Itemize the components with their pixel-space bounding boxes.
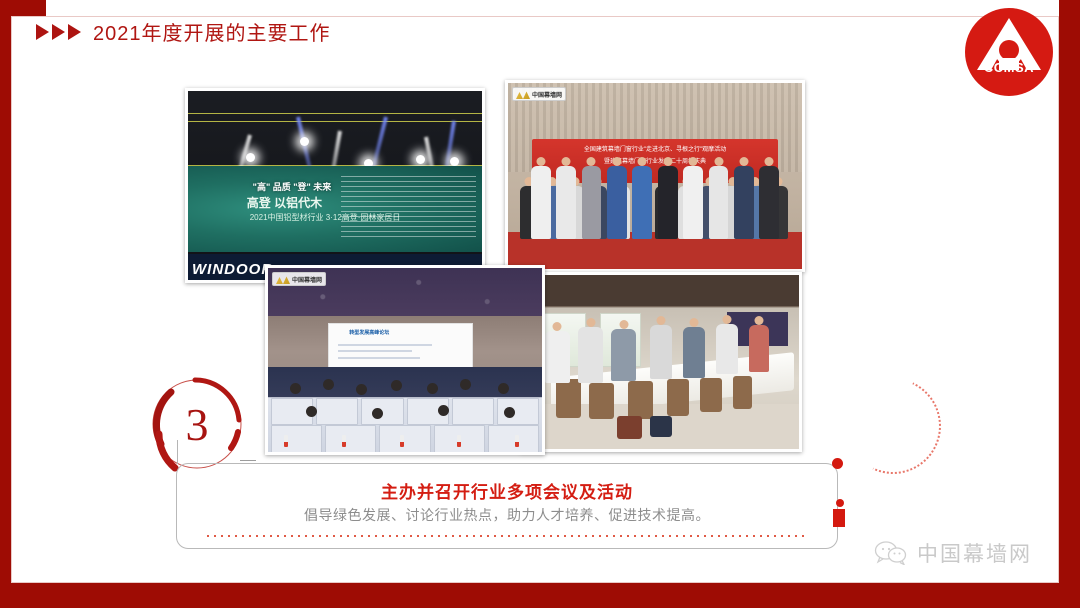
wechat-footer: 中国幕墙网 bbox=[874, 538, 1032, 568]
watermark-mark-icon bbox=[276, 274, 290, 284]
photo-auditorium-image: 转型发展高峰论坛 bbox=[268, 268, 542, 452]
photo-roundtable[interactable] bbox=[520, 272, 802, 452]
logo-mark-icon bbox=[965, 8, 1053, 96]
windoor-brand-text: WINDOOR bbox=[192, 261, 273, 278]
page-title: 2021年度开展的主要工作 bbox=[93, 17, 331, 46]
dotted-circle-decoration bbox=[831, 364, 954, 487]
dot-marker-small bbox=[836, 499, 844, 507]
caption-dotted-rule bbox=[207, 535, 807, 537]
screen-title: 转型发展高峰论坛 bbox=[349, 329, 389, 336]
photo-stage-event-image: "高" 品质 "登" 未来 高登 以铝代木 2021中国铝型材行业 3·12高登… bbox=[188, 91, 482, 280]
photo-auditorium[interactable]: 转型发展高峰论坛 bbox=[265, 265, 545, 455]
watermark-text: 中国幕墙网 bbox=[292, 275, 322, 284]
frame-band-right bbox=[1059, 0, 1080, 608]
triangle-right-icon bbox=[52, 24, 65, 40]
slide-root: 2021年度开展的主要工作 CCMSA bbox=[0, 0, 1080, 608]
led-line-2: 高登 以铝代木 bbox=[247, 194, 322, 211]
ccmsa-logo: CCMSA bbox=[957, 0, 1059, 102]
banner-line-1: 全国建筑幕墙门窗行业"走进北京、寻根之行"观摩活动 bbox=[532, 144, 779, 153]
wechat-icon bbox=[874, 541, 908, 565]
photo-roundtable-image bbox=[523, 275, 799, 449]
presentation-screen: 转型发展高峰论坛 bbox=[328, 323, 472, 373]
photo-group-banner-image: 全国建筑幕墙门窗行业"走进北京、寻根之行"观摩活动 暨建筑幕墙门窗行业发展二十周… bbox=[508, 83, 802, 269]
caption-tick-left bbox=[177, 440, 178, 464]
section-number: 3 bbox=[143, 370, 251, 478]
caption-box: 主办并召开行业多项会议及活动 倡导绿色发展、讨论行业热点，助力人才培养、促进技术… bbox=[176, 463, 838, 549]
watermark-mark-icon bbox=[516, 89, 530, 99]
square-marker bbox=[833, 509, 845, 527]
frame-band-bottom bbox=[0, 583, 1080, 608]
page-header: 2021年度开展的主要工作 bbox=[36, 17, 331, 46]
frame-band-left bbox=[0, 0, 11, 608]
led-line-1: "高" 品质 "登" 未来 bbox=[253, 180, 332, 193]
section-number-badge: 3 bbox=[143, 370, 251, 478]
audience-seats bbox=[268, 367, 542, 452]
triangle-right-icon bbox=[36, 24, 49, 40]
watermark-text: 中国幕墙网 bbox=[532, 90, 562, 99]
logo-text: CCMSA bbox=[965, 60, 1053, 75]
caption-tick-right bbox=[240, 460, 256, 461]
wechat-brand-text: 中国幕墙网 bbox=[917, 538, 1032, 568]
dot-marker-large bbox=[832, 458, 843, 469]
frame-band-top-left bbox=[0, 0, 46, 16]
caption-subtitle: 倡导绿色发展、讨论行业热点，助力人才培养、促进技术提高。 bbox=[177, 505, 837, 525]
people-group bbox=[514, 154, 796, 240]
watermark-badge: 中国幕墙网 bbox=[512, 87, 566, 101]
photo-group-banner[interactable]: 全国建筑幕墙门窗行业"走进北京、寻根之行"观摩活动 暨建筑幕墙门窗行业发展二十周… bbox=[505, 80, 805, 272]
photo-stage-event[interactable]: "高" 品质 "登" 未来 高登 以铝代木 2021中国铝型材行业 3·12高登… bbox=[185, 88, 485, 283]
watermark-badge: 中国幕墙网 bbox=[272, 272, 326, 286]
caption-title: 主办并召开行业多项会议及活动 bbox=[177, 478, 837, 503]
led-wall: "高" 品质 "登" 未来 高登 以铝代木 2021中国铝型材行业 3·12高登… bbox=[188, 166, 482, 252]
triangle-right-icon bbox=[68, 24, 81, 40]
triangle-right-icon-group bbox=[36, 24, 81, 40]
